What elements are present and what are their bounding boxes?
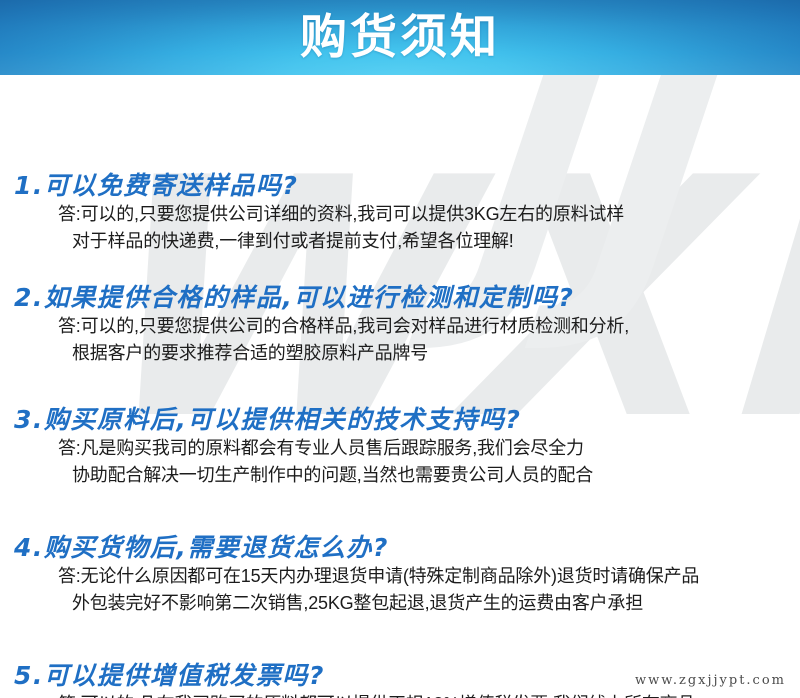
page-title: 购货须知	[0, 5, 800, 71]
faq-item-4: 4.购买货物后,需要退货怎么办? 答:无论什么原因都可在15天内办理退货申请(特…	[0, 533, 800, 617]
faq-answer-2-line-1: 答:可以的,只要您提供公司的合格样品,我司会对样品进行材质检测和分析,	[0, 313, 800, 340]
faq-question-4: 4.购买货物后,需要退货怎么办?	[0, 533, 800, 563]
purchase-notice-page: 购货须知 WXbJJ JJ 1.可以免费寄送样品吗? 答:可以的,只要您提供公司…	[0, 0, 800, 698]
faq-answer-3-line-2: 协助配合解决一切生产制作中的问题,当然也需要贵公司人员的配合	[0, 462, 800, 489]
faq-item-2: 2.如果提供合格的样品,可以进行检测和定制吗? 答:可以的,只要您提供公司的合格…	[0, 283, 800, 367]
footer-website-url: www.zgxjjypt.com	[635, 673, 786, 688]
faq-answer-3-line-1: 答:凡是购买我司的原料都会有专业人员售后跟踪服务,我们会尽全力	[0, 435, 800, 462]
faq-question-2: 2.如果提供合格的样品,可以进行检测和定制吗?	[0, 283, 800, 313]
faq-answer-1-line-1: 答:可以的,只要您提供公司详细的资料,我司可以提供3KG左右的原料试样	[0, 201, 800, 228]
faq-answer-5-line-1: 答:可以的,凡在我司购买的原料都可以提供正规13%增值税发票,我们线上所有商品	[0, 691, 800, 698]
faq-answer-2-line-2: 根据客户的要求推荐合适的塑胶原料产品牌号	[0, 340, 800, 367]
faq-item-3: 3.购买原料后,可以提供相关的技术支持吗? 答:凡是购买我司的原料都会有专业人员…	[0, 405, 800, 489]
page-header-banner: 购货须知	[0, 0, 800, 75]
faq-question-3: 3.购买原料后,可以提供相关的技术支持吗?	[0, 405, 800, 435]
faq-item-1: 1.可以免费寄送样品吗? 答:可以的,只要您提供公司详细的资料,我司可以提供3K…	[0, 171, 800, 255]
faq-question-1: 1.可以免费寄送样品吗?	[0, 171, 800, 201]
faq-answer-4-line-1: 答:无论什么原因都可在15天内办理退货申请(特殊定制商品除外)退货时请确保产品	[0, 563, 800, 590]
faq-answer-1-line-2: 对于样品的快递费,一律到付或者提前支付,希望各位理解!	[0, 228, 800, 255]
faq-answer-4-line-2: 外包装完好不影响第二次销售,25KG整包起退,退货产生的运费由客户承担	[0, 590, 800, 617]
